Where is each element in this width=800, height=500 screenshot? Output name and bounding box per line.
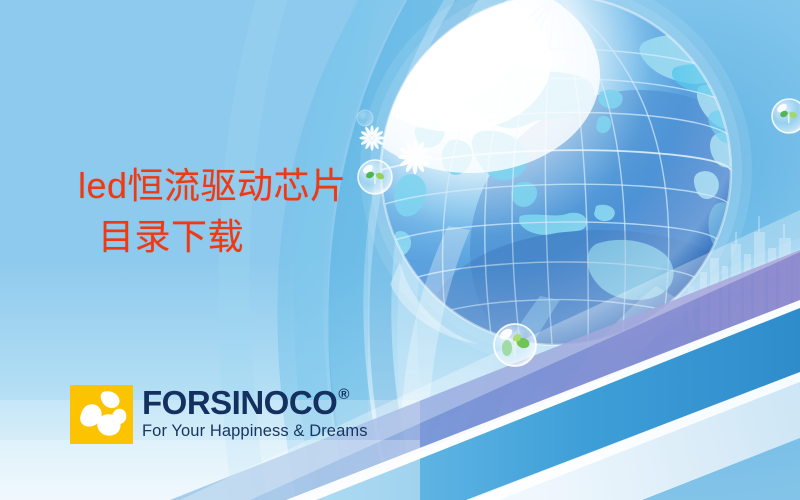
- page-title-line-2: 目录下载: [78, 211, 347, 262]
- bubble-small-top: [357, 110, 373, 126]
- forsinoco-logo[interactable]: FORSINOCO ® For Your Happiness & Dreams: [70, 385, 368, 444]
- led-catalog-banner: led恒流驱动芯片 目录下载 FORSINOCO ®: [0, 0, 800, 500]
- logo-wordmark-text: FORSINOCO: [142, 386, 337, 419]
- forsinoco-pinwheel-logo-icon: [70, 385, 133, 444]
- bubble-sprout: [494, 324, 536, 366]
- registered-trademark-icon: ®: [338, 387, 349, 402]
- page-title: led恒流驱动芯片 目录下载: [78, 160, 347, 262]
- logo-wordmark: FORSINOCO ®: [142, 386, 368, 419]
- logo-text-block: FORSINOCO ® For Your Happiness & Dreams: [142, 385, 368, 440]
- page-title-line-1: led恒流驱动芯片: [78, 165, 347, 206]
- bubble-leaf-right: [772, 99, 800, 133]
- logo-tagline: For Your Happiness & Dreams: [142, 423, 368, 440]
- bubble-pinwheel: [358, 160, 392, 194]
